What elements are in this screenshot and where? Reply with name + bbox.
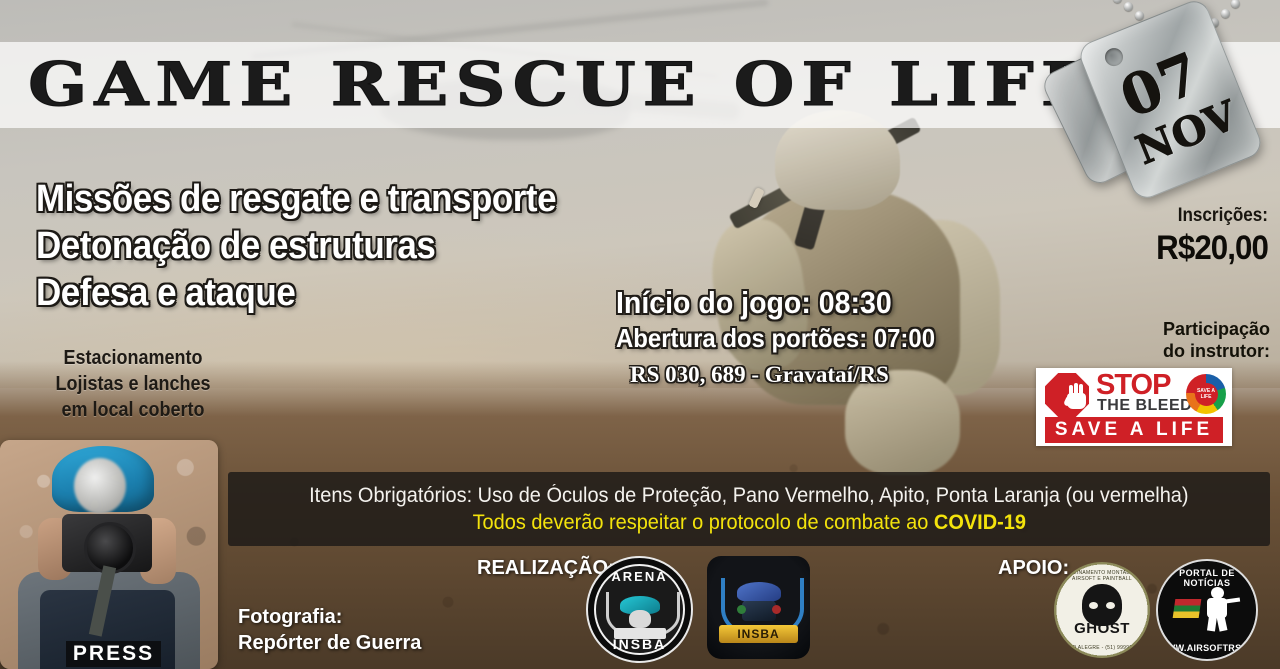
game-start-time: Início do jogo: 08:30 <box>616 284 1002 321</box>
instructor-line-2: do instrutor: <box>1098 340 1270 362</box>
microphone-windscreen-icon <box>74 458 126 514</box>
skull-icon <box>629 610 651 628</box>
airsoftrs-logo[interactable]: PORTAL DE NOTÍCIAS WWW.AIRSOFTRS.COM <box>1156 559 1258 661</box>
covid-protocol-text: Todos deverão respeitar o protocolo de c… <box>472 509 1025 537</box>
soldier-silhouette-icon <box>1202 587 1234 631</box>
stb-tagline: SAVE A LIFE <box>1045 417 1223 443</box>
amenities-list: Estacionamento Lojistas e lanches em loc… <box>18 345 248 423</box>
photo-credit-label: Fotografia: <box>238 604 421 630</box>
fee-label: Inscrições: <box>1124 204 1268 228</box>
venue-address: RS 030, 689 - Gravataí/RS <box>630 361 1036 389</box>
stb-seal-icon: SAVE A LIFE <box>1186 374 1226 414</box>
feature-item: Missões de resgate e transporte <box>36 176 606 223</box>
portal-logo-bottom-text: WWW.AIRSOFTRS.COM <box>1158 643 1256 653</box>
ghost-logo-arc-bottom: PORTO ALEGRE - (51) 99999-9999 <box>1056 645 1148 651</box>
arena-logo-bottom-text: INSBA <box>588 636 691 652</box>
event-poster: GAME RESCUE OF LIFE Missões de resgate e… <box>0 0 1280 669</box>
insba-logo[interactable]: INSBA <box>707 556 810 659</box>
page-title: GAME RESCUE OF LIFE <box>28 46 1200 126</box>
mandatory-items-text: Itens Obrigatórios: Uso de Óculos de Pro… <box>309 482 1188 509</box>
arena-insba-logo[interactable]: ARENA INSBA <box>586 556 693 663</box>
stop-the-bleed-logo: STOP THE BLEED® SAVE A LIFE SAVE A LIFE <box>1036 368 1232 446</box>
amenity-item: Estacionamento <box>30 345 237 371</box>
amenity-item: Lojistas e lanches <box>30 371 237 397</box>
dog-tag-date: 07 NOV <box>1040 0 1280 190</box>
covid-label: COVID-19 <box>934 511 1026 534</box>
photo-credit-name: Repórter de Guerra <box>238 630 421 656</box>
fee-amount: R$20,00 <box>1121 228 1268 268</box>
photo-credit: Fotografia: Repórter de Guerra <box>238 604 421 656</box>
instructor-line-1: Participação <box>1098 318 1270 340</box>
covid-prefix: Todos deverão respeitar o protocolo de c… <box>472 511 933 534</box>
instructor-note: Participação do instrutor: <box>1098 318 1270 362</box>
gates-open-time: Abertura dos portões: 07:00 <box>616 321 1002 355</box>
ghost-logo[interactable]: TREINAMENTO MONTADO - AIRSOFT E PAINTBAL… <box>1054 562 1150 658</box>
amenity-item: em local coberto <box>30 397 237 423</box>
insba-banner-text: INSBA <box>719 625 798 643</box>
feature-list: Missões de resgate e transporte Detonaçã… <box>36 176 656 317</box>
war-photographer-photo: PRESS <box>0 440 218 669</box>
arena-logo-top-text: ARENA <box>588 569 691 584</box>
stb-word-stop: STOP <box>1096 370 1170 400</box>
stb-seal-text: SAVE A LIFE <box>1195 383 1218 406</box>
ghost-logo-text: GHOST <box>1056 620 1148 637</box>
registration-fee: Inscrições: R$20,00 <box>1108 204 1268 268</box>
feature-item: Detonação de estruturas <box>36 223 606 270</box>
feature-item: Defesa e ataque <box>36 270 606 317</box>
requirements-banner: Itens Obrigatórios: Uso de Óculos de Pro… <box>228 472 1270 546</box>
stop-sign-icon <box>1045 373 1089 417</box>
press-vest-badge: PRESS <box>66 641 161 667</box>
raised-hand-icon <box>1065 382 1088 409</box>
ghost-logo-arc-top: TREINAMENTO MONTADO - AIRSOFT E PAINTBAL… <box>1056 570 1148 582</box>
schedule-block: Início do jogo: 08:30 Abertura dos portõ… <box>616 284 1036 389</box>
portal-logo-top-text: PORTAL DE NOTÍCIAS <box>1158 568 1256 588</box>
soldier-figure <box>620 70 1050 470</box>
rs-flag-icon <box>1173 599 1202 618</box>
beret-icon <box>737 582 781 602</box>
